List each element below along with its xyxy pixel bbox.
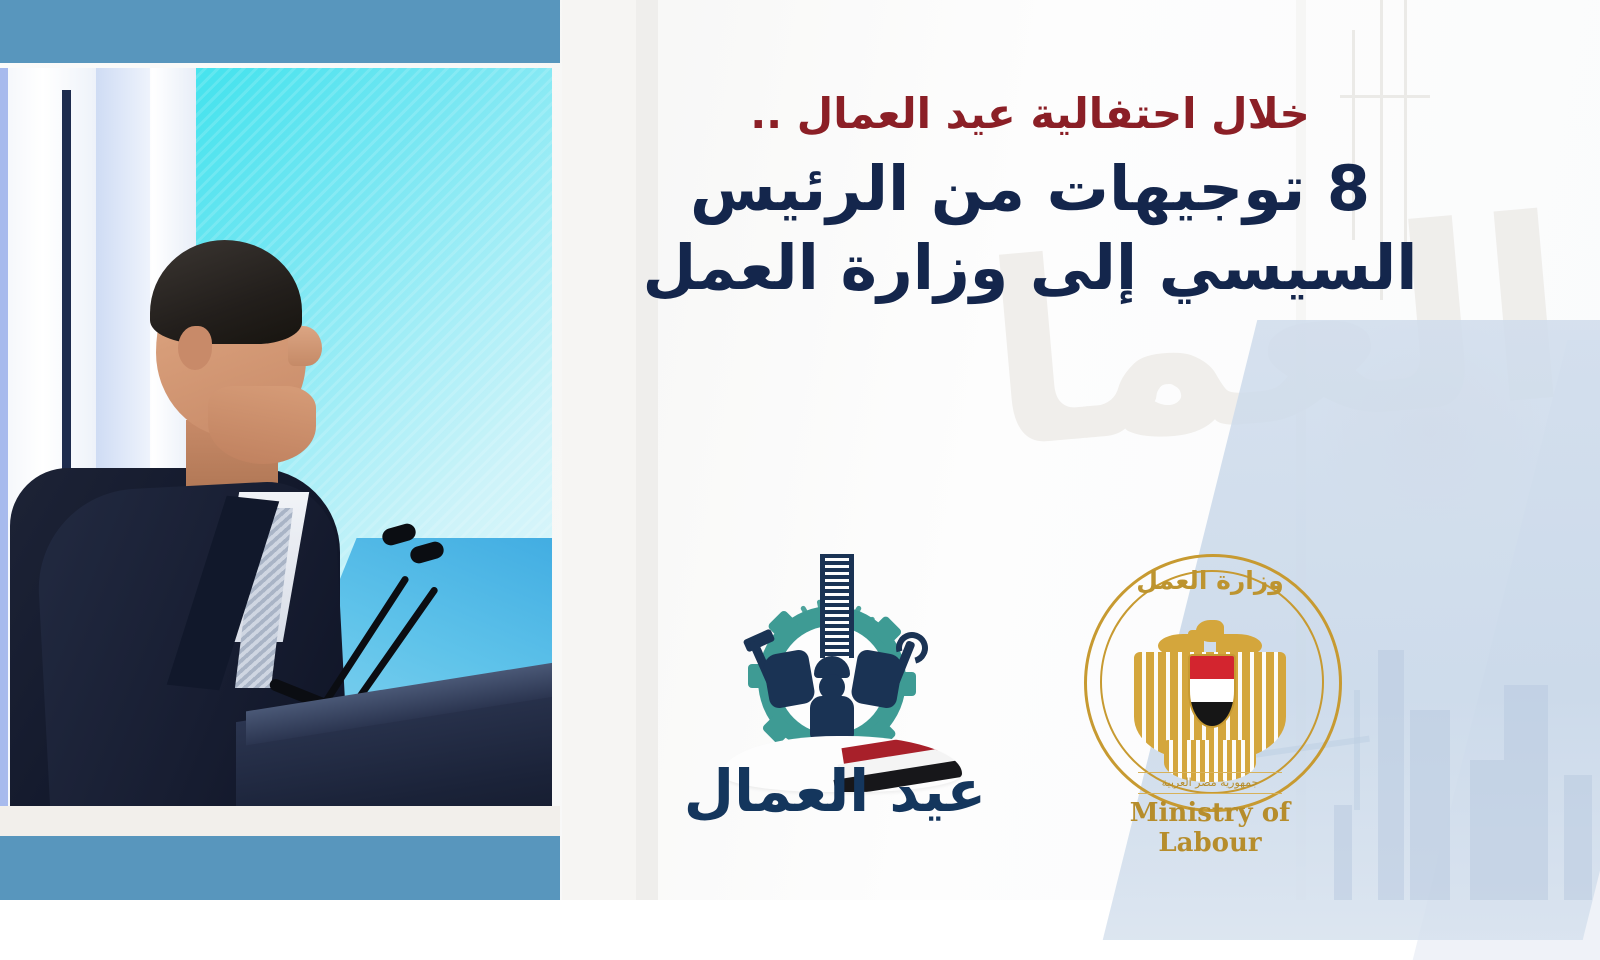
eagle-beak xyxy=(1188,630,1202,638)
ministry-of-labour-seal: وزارة العمل جمهورية مصر العربية Ministry… xyxy=(1060,540,1360,860)
worker-torso xyxy=(810,696,854,740)
labour-day-logo: عيد العمال xyxy=(670,548,1000,860)
person-chin xyxy=(208,386,316,464)
headline-block: خلال احتفالية عيد العمال .. 8 توجيهات من… xyxy=(600,86,1460,307)
photo-bottom-gap xyxy=(0,806,560,836)
top-blue-band xyxy=(0,0,560,63)
worker-fist-right xyxy=(850,648,905,709)
bottom-blue-band xyxy=(0,836,560,900)
person-ear xyxy=(178,326,212,370)
stage-wall-blue-edge xyxy=(0,68,8,806)
worker-figure-icon xyxy=(808,656,856,738)
kicker-text: خلال احتفالية عيد العمال .. xyxy=(600,86,1460,143)
skyline-building-2 xyxy=(1378,650,1404,900)
skyline-building-4 xyxy=(1504,685,1548,900)
page-title: 8 توجيهات من الرئيس السيسي إلى وزارة الع… xyxy=(600,149,1460,308)
president-photo xyxy=(0,68,552,806)
logo-row: عيد العمال وزارة العمل جمهورية مصر العرب… xyxy=(660,540,1360,860)
skyline-building-5 xyxy=(1564,775,1592,900)
seal-english-title: Ministry of Labour xyxy=(1084,798,1336,858)
skyline-building-1 xyxy=(1410,710,1450,900)
tower-icon xyxy=(820,554,854,658)
seal-scroll-text: جمهورية مصر العربية xyxy=(1138,772,1282,794)
skyline-building-3 xyxy=(1470,760,1504,900)
labour-day-logo-text: عيد العمال xyxy=(670,762,1000,820)
seal-arabic-title: وزارة العمل xyxy=(1084,568,1336,593)
egypt-flag-shield xyxy=(1188,654,1236,728)
